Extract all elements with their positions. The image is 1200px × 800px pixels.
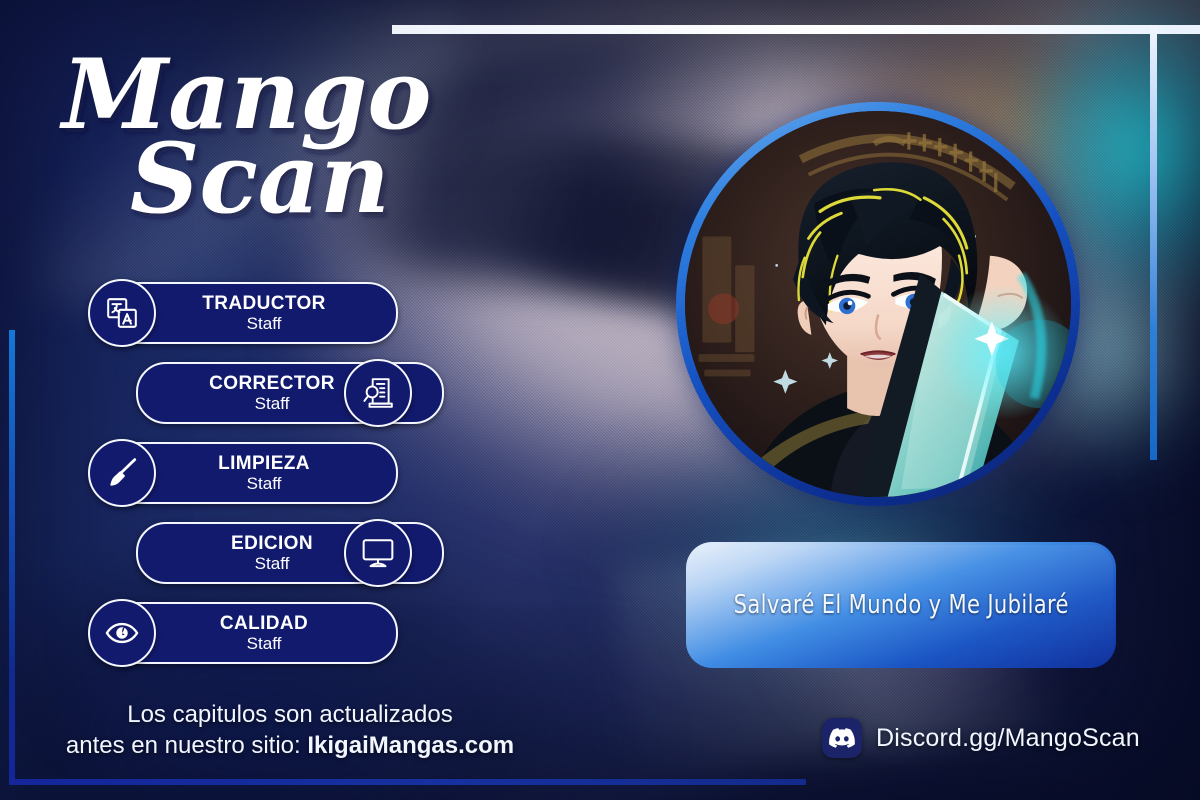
site-domain: IkigaiMangas.com	[307, 732, 514, 759]
scanlation-credits-page: Mango Scan TRADUCTOR Staff CORRE	[0, 0, 1200, 800]
translate-icon	[88, 279, 156, 347]
site-note-prefix: antes en nuestro sitio:	[66, 732, 307, 759]
staff-name-label: Staff	[247, 315, 282, 332]
decor-line-right	[1150, 25, 1157, 460]
series-title-box: Salvaré El Mundo y Me Jubilaré	[686, 542, 1116, 668]
discord-icon	[822, 718, 862, 758]
series-title: Salvaré El Mundo y Me Jubilaré	[733, 590, 1068, 620]
staff-badge-limpieza[interactable]: LIMPIEZA Staff	[70, 442, 430, 500]
series-portrait-frame	[676, 102, 1080, 506]
eye-icon	[88, 599, 156, 667]
staff-name-label: Staff	[247, 635, 282, 652]
site-note-line-1: Los capitulos son actualizados	[40, 700, 540, 731]
proofread-document-icon	[344, 359, 412, 427]
site-note-line-2: antes en nuestro sitio: IkigaiMangas.com	[40, 731, 540, 762]
site-update-note: Los capitulos son actualizados antes en …	[40, 700, 540, 761]
staff-name-label: Staff	[247, 475, 282, 492]
series-portrait-image	[685, 111, 1071, 497]
desktop-monitor-icon	[344, 519, 412, 587]
discord-label: Discord.gg/MangoScan	[876, 724, 1140, 753]
staff-badge-corrector[interactable]: CORRECTOR Staff	[70, 362, 430, 420]
staff-name-label: Staff	[255, 555, 290, 572]
decor-line-left	[9, 330, 15, 785]
staff-badge-traductor[interactable]: TRADUCTOR Staff	[70, 282, 430, 340]
staff-role-label: LIMPIEZA	[218, 454, 310, 473]
decor-line-bottom	[9, 779, 806, 785]
decor-line-top	[392, 25, 1200, 34]
staff-role-label: CORRECTOR	[209, 374, 335, 393]
staff-role-label: TRADUCTOR	[202, 294, 326, 313]
staff-badge-edicion[interactable]: EDICION Staff	[70, 522, 430, 580]
paintbrush-icon	[88, 439, 156, 507]
staff-name-label: Staff	[255, 395, 290, 412]
staff-credits-list: TRADUCTOR Staff CORRECTOR Staff	[70, 282, 430, 682]
staff-badge-calidad[interactable]: CALIDAD Staff	[70, 602, 430, 660]
staff-role-label: EDICION	[231, 534, 313, 553]
discord-link[interactable]: Discord.gg/MangoScan	[822, 718, 1140, 758]
staff-role-label: CALIDAD	[220, 614, 308, 633]
